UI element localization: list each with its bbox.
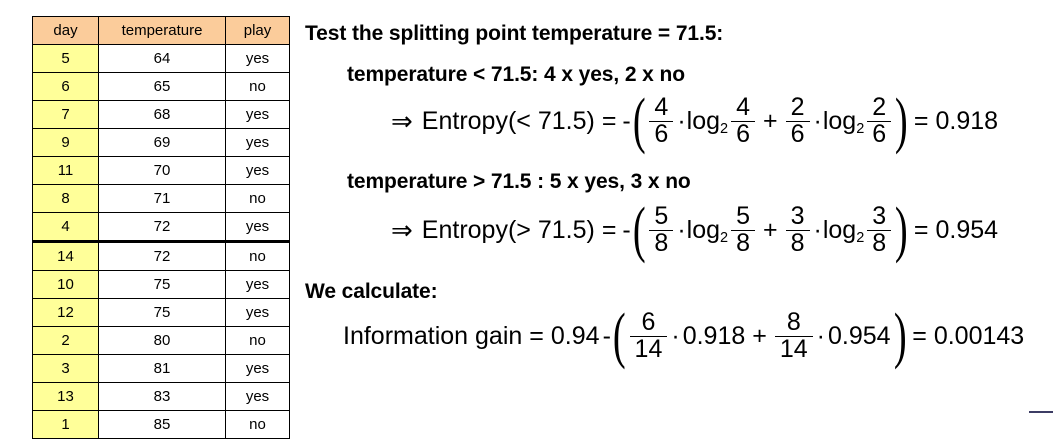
table-body: 564yes665no768yes969yes1170yes871no472ye… <box>33 45 290 439</box>
log-base-2-a: log2 <box>687 107 728 136</box>
cell-play: yes <box>226 271 290 299</box>
column-header-day: day <box>33 17 99 45</box>
cell-day: 3 <box>33 355 99 383</box>
cell-day: 12 <box>33 299 99 327</box>
fraction-2-6-a: 2 6 <box>786 95 810 147</box>
cell-temperature: 64 <box>99 45 226 73</box>
cell-day: 2 <box>33 327 99 355</box>
table-row: 381yes <box>33 355 290 383</box>
cell-day: 13 <box>33 383 99 411</box>
base-entropy-value: 0.94 <box>549 322 602 351</box>
cell-day: 5 <box>33 45 99 73</box>
fraction-8-14: 8 14 <box>775 310 813 362</box>
cell-day: 7 <box>33 101 99 129</box>
paren-close: ) <box>895 102 908 140</box>
cell-temperature: 75 <box>99 271 226 299</box>
cell-day: 1 <box>33 411 99 439</box>
cell-play: yes <box>226 45 290 73</box>
cell-day: 9 <box>33 129 99 157</box>
cell-temperature: 69 <box>99 129 226 157</box>
table-row: 871no <box>33 185 290 213</box>
equals-sign: = <box>524 322 549 351</box>
cell-day: 4 <box>33 213 99 242</box>
log-base-2-c: log2 <box>687 216 728 245</box>
table-row: 564yes <box>33 45 290 73</box>
cell-temperature: 68 <box>99 101 226 129</box>
temperature-sorted-table: day temperature play 564yes665no768yes96… <box>32 16 289 439</box>
table-row: 1075yes <box>33 271 290 299</box>
cell-temperature: 72 <box>99 213 226 242</box>
cell-temperature: 85 <box>99 411 226 439</box>
table-row: 185no <box>33 411 290 439</box>
cell-day: 6 <box>33 73 99 101</box>
calculate-label: We calculate: <box>305 280 1053 304</box>
dot-operator: · <box>670 322 680 351</box>
equation-information-gain: Information gain = 0.94 - ( 6 14 · 0.918… <box>341 310 1053 362</box>
cell-play: yes <box>226 157 290 185</box>
equals-sign: = <box>597 107 622 136</box>
cell-temperature: 72 <box>99 242 226 271</box>
fraction-3-8-a: 3 8 <box>786 204 810 256</box>
cell-play: yes <box>226 101 290 129</box>
equals-sign: = <box>909 107 934 136</box>
plus-sign: + <box>758 107 783 136</box>
entropy-low-ref: 0.918 <box>681 322 748 351</box>
cell-play: no <box>226 411 290 439</box>
dot-operator: · <box>813 216 823 245</box>
column-header-play: play <box>226 17 290 45</box>
table-header-row: day temperature play <box>33 17 290 45</box>
table-row: 1383yes <box>33 383 290 411</box>
equals-sign: = <box>909 216 934 245</box>
cell-temperature: 83 <box>99 383 226 411</box>
entropy-low-value: 0.918 <box>933 107 1000 136</box>
cell-play: yes <box>226 299 290 327</box>
explanation-panel: Test the splitting point temperature = 7… <box>305 14 1053 362</box>
implies-icon: ⇒ <box>391 106 420 137</box>
corner-mark <box>1029 411 1053 413</box>
paren-open: ( <box>633 211 646 249</box>
cell-temperature: 80 <box>99 327 226 355</box>
equals-sign: = <box>907 322 932 351</box>
information-gain-value: 0.00143 <box>932 322 1026 351</box>
log-base-2-d: log2 <box>823 216 864 245</box>
table-row: 472yes <box>33 213 290 242</box>
cell-play: no <box>226 242 290 271</box>
log-base-2-b: log2 <box>823 107 864 136</box>
dot-operator: · <box>676 216 686 245</box>
cell-play: no <box>226 327 290 355</box>
dot-operator: · <box>676 107 686 136</box>
cell-play: yes <box>226 383 290 411</box>
paren-open: ( <box>633 102 646 140</box>
equation-entropy-high: ⇒ Entropy(> 71.5) = - ( 5 8 · log2 5 8 +… <box>391 204 1053 256</box>
entropy-high-value: 0.954 <box>933 216 1000 245</box>
fraction-2-6-b: 2 6 <box>867 95 891 147</box>
fraction-4-6-a: 4 6 <box>649 95 673 147</box>
fraction-4-6-b: 4 6 <box>731 95 755 147</box>
cell-day: 8 <box>33 185 99 213</box>
branch-high-label: temperature > 71.5 : 5 x yes, 3 x no <box>347 170 1053 194</box>
minus-sign: - <box>602 322 612 351</box>
fraction-3-8-b: 3 8 <box>867 204 891 256</box>
implies-icon: ⇒ <box>391 215 420 246</box>
fraction-5-8-b: 5 8 <box>731 204 755 256</box>
cell-day: 11 <box>33 157 99 185</box>
cell-temperature: 65 <box>99 73 226 101</box>
table-row: 768yes <box>33 101 290 129</box>
table-row: 280no <box>33 327 290 355</box>
cell-day: 10 <box>33 271 99 299</box>
table-header: day temperature play <box>33 17 290 45</box>
dot-operator: · <box>813 107 823 136</box>
plus-sign: + <box>747 322 772 351</box>
cell-temperature: 70 <box>99 157 226 185</box>
paren-close: ) <box>895 211 908 249</box>
table-row: 1472no <box>33 242 290 271</box>
table-row: 665no <box>33 73 290 101</box>
plus-sign: + <box>758 216 783 245</box>
table-row: 1275yes <box>33 299 290 327</box>
cell-temperature: 81 <box>99 355 226 383</box>
equation-entropy-low: ⇒ Entropy(< 71.5) = - ( 4 6 · log2 4 6 +… <box>391 95 1053 147</box>
fraction-6-14: 6 14 <box>630 310 668 362</box>
minus-sign: - <box>621 107 631 136</box>
cell-play: yes <box>226 213 290 242</box>
minus-sign: - <box>621 216 631 245</box>
table-row: 969yes <box>33 129 290 157</box>
cell-play: yes <box>226 129 290 157</box>
cell-temperature: 75 <box>99 299 226 327</box>
data-table: day temperature play 564yes665no768yes96… <box>32 16 290 439</box>
cell-temperature: 71 <box>99 185 226 213</box>
paren-open: ( <box>613 317 626 355</box>
fraction-5-8-a: 5 8 <box>649 204 673 256</box>
dot-operator: · <box>816 322 826 351</box>
page-title: Test the splitting point temperature = 7… <box>305 22 1053 46</box>
table-row: 1170yes <box>33 157 290 185</box>
entropy-high-ref: 0.954 <box>826 322 893 351</box>
entropy-high-name: Entropy(> 71.5) <box>420 216 597 245</box>
cell-play: no <box>226 73 290 101</box>
branch-low-label: temperature < 71.5: 4 x yes, 2 x no <box>347 63 1053 87</box>
column-header-temperature: temperature <box>99 17 226 45</box>
equals-sign: = <box>597 216 622 245</box>
paren-close: ) <box>893 317 906 355</box>
information-gain-name: Information gain <box>341 322 524 351</box>
entropy-low-name: Entropy(< 71.5) <box>420 107 597 136</box>
cell-day: 14 <box>33 242 99 271</box>
cell-play: yes <box>226 355 290 383</box>
cell-play: no <box>226 185 290 213</box>
